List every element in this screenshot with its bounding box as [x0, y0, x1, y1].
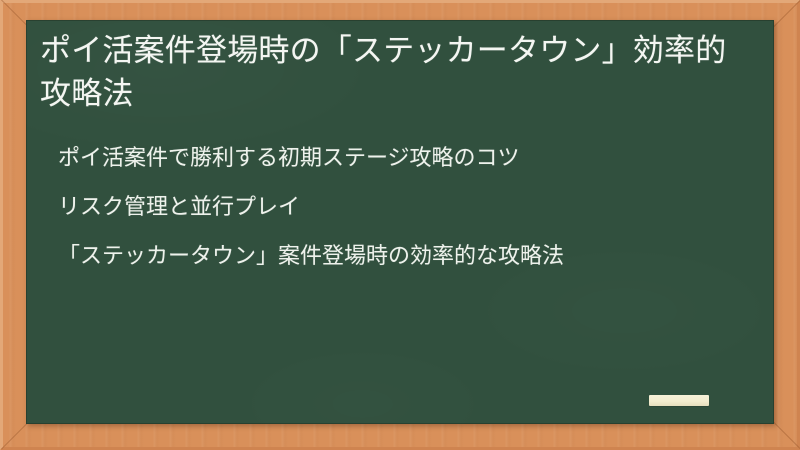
list-item: リスク管理と並行プレイ — [58, 191, 746, 222]
chalkboard-surface: ポイ活案件登場時の「ステッカータウン」効率的攻略法 ポイ活案件で勝利する初期ステ… — [26, 20, 774, 424]
chalk-stick — [649, 395, 709, 406]
board-title: ポイ活案件登場時の「ステッカータウン」効率的攻略法 — [34, 30, 756, 116]
board-content: ポイ活案件登場時の「ステッカータウン」効率的攻略法 ポイ活案件で勝利する初期ステ… — [26, 20, 774, 271]
list-item: 「ステッカータウン」案件登場時の効率的な攻略法 — [58, 240, 746, 271]
list-item: ポイ活案件で勝利する初期ステージ攻略のコツ — [58, 142, 746, 173]
blackboard-scene: ポイ活案件登場時の「ステッカータウン」効率的攻略法 ポイ活案件で勝利する初期ステ… — [0, 0, 800, 450]
board-topic-list: ポイ活案件で勝利する初期ステージ攻略のコツ リスク管理と並行プレイ 「ステッカー… — [34, 142, 756, 272]
